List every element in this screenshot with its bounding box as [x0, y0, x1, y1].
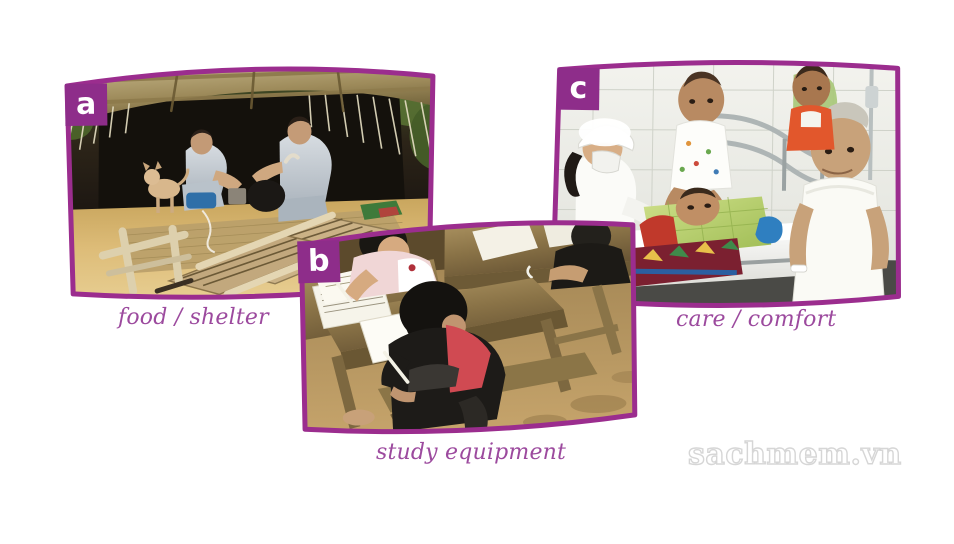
figure-b-badge-label: b [308, 246, 330, 277]
caption-care-comfort: care / comfort [676, 307, 836, 332]
figure-c-badge: c [557, 68, 600, 111]
figure-a-badge: a [65, 84, 107, 126]
figure-card-b[interactable]: b [293, 213, 648, 446]
caption-study-equipment: study equipment [376, 440, 566, 465]
figure-b-image [293, 213, 648, 446]
caption-food-shelter: food / shelter [118, 305, 269, 330]
figure-b-badge: b [297, 240, 340, 283]
figure-c-badge-label: c [569, 74, 587, 104]
sachmem-watermark: sachmem.vn [688, 437, 902, 472]
slide-canvas: a [0, 0, 954, 544]
figure-a-badge-label: a [76, 90, 97, 120]
